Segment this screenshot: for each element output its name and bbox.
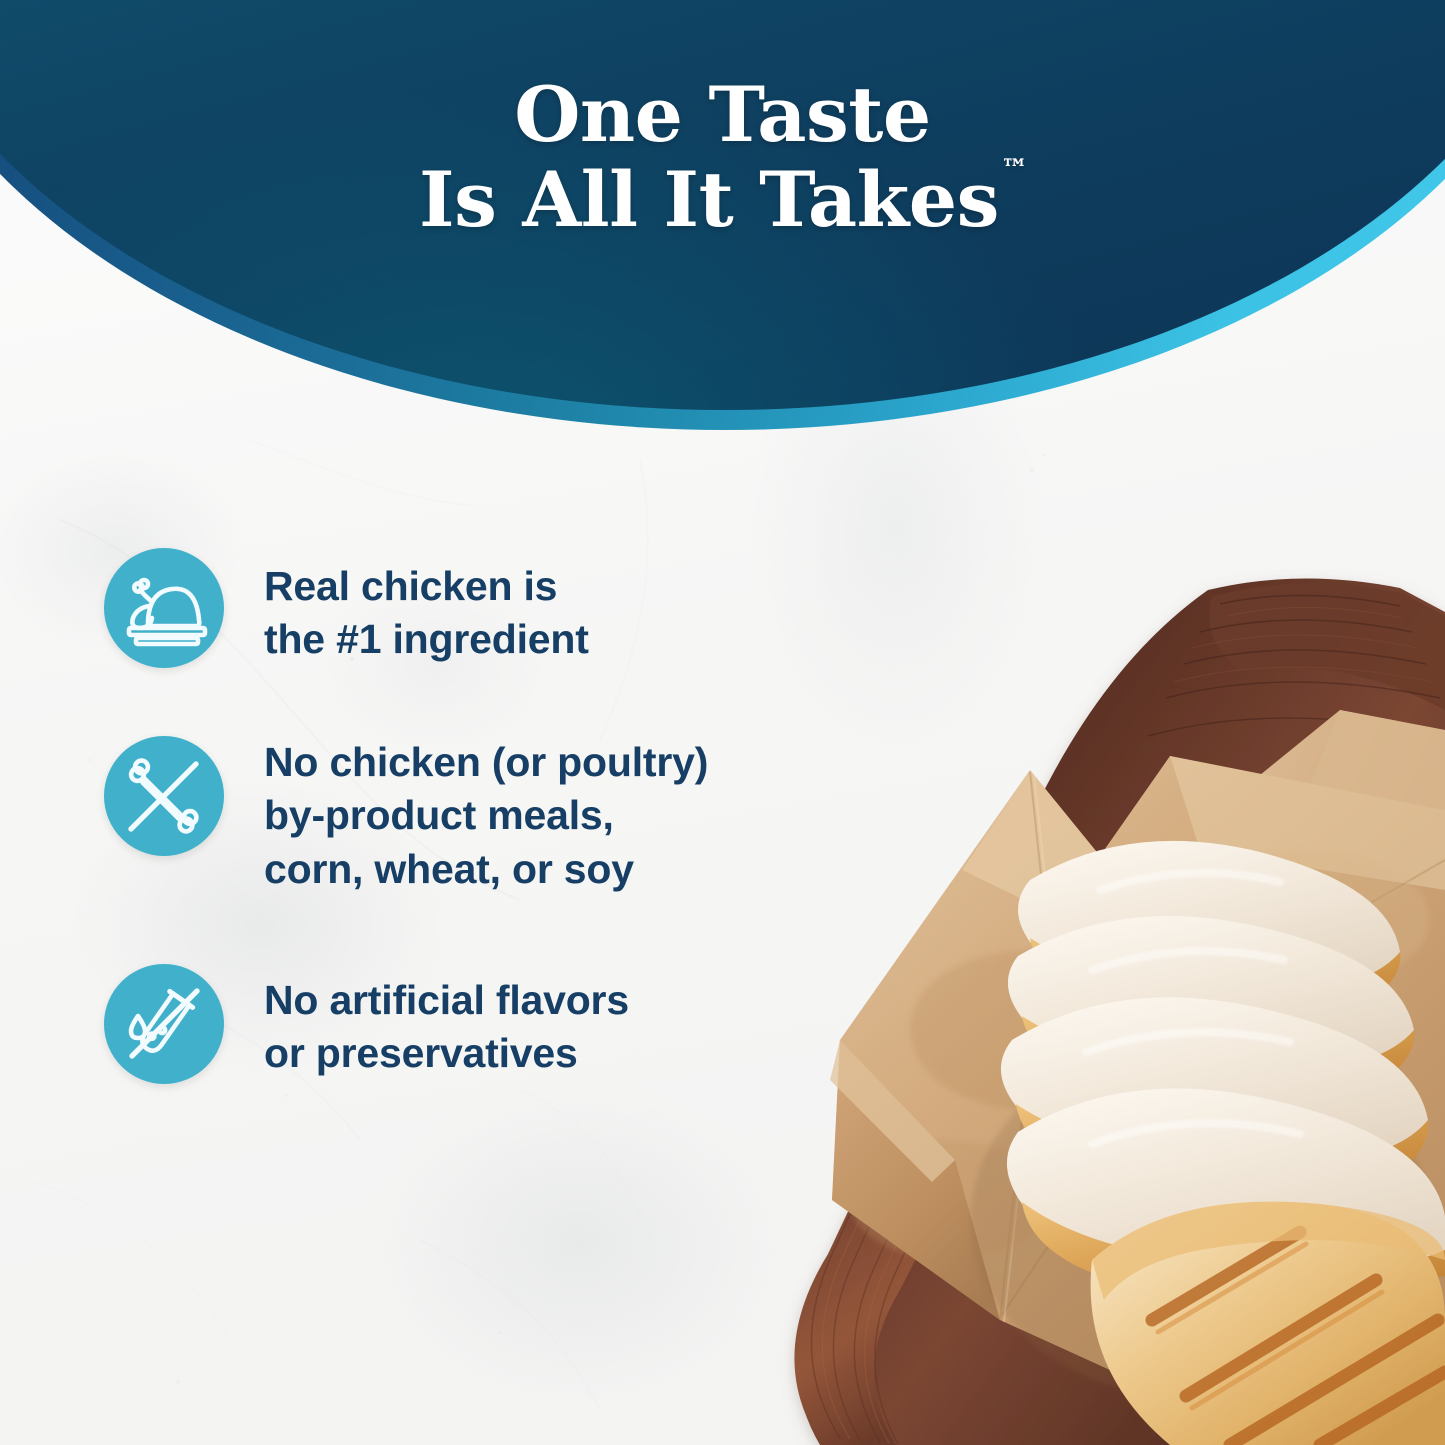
feature-text: Real chicken is the #1 ingredient — [264, 560, 589, 667]
feature-list: Real chicken is the #1 ingredient — [104, 548, 844, 1084]
no-bone-icon — [104, 736, 224, 856]
list-item: No chicken (or poultry) by-product meals… — [104, 736, 844, 896]
list-item: No artificial flavors or preservatives — [104, 964, 844, 1084]
trademark-symbol: ™ — [1001, 154, 1028, 185]
feature-icon-badge — [104, 548, 224, 668]
no-test-tube-icon — [104, 964, 224, 1084]
roast-chicken-platter-icon — [104, 548, 224, 668]
feature-text-line: corn, wheat, or soy — [264, 843, 708, 896]
list-item: Real chicken is the #1 ingredient — [104, 548, 844, 668]
marketing-infographic: One Taste Is All It Takes™ — [0, 0, 1445, 1445]
feature-icon-badge — [104, 964, 224, 1084]
feature-text-line: No chicken (or poultry) — [264, 736, 708, 789]
feature-text: No chicken (or poultry) by-product meals… — [264, 736, 708, 896]
feature-text-line: Real chicken is — [264, 560, 589, 613]
headline-line-2-wrap: Is All It Takes™ — [419, 157, 1026, 242]
feature-text-line: by-product meals, — [264, 789, 708, 842]
feature-text: No artificial flavors or preservatives — [264, 974, 629, 1081]
headline-line-2: Is All It Takes — [419, 155, 999, 244]
headline-line-1: One Taste — [0, 72, 1445, 157]
feature-text-line: or preservatives — [264, 1027, 629, 1080]
feature-text-line: the #1 ingredient — [264, 613, 589, 666]
page-title: One Taste Is All It Takes™ — [0, 72, 1445, 242]
feature-text-line: No artificial flavors — [264, 974, 629, 1027]
feature-icon-badge — [104, 736, 224, 856]
